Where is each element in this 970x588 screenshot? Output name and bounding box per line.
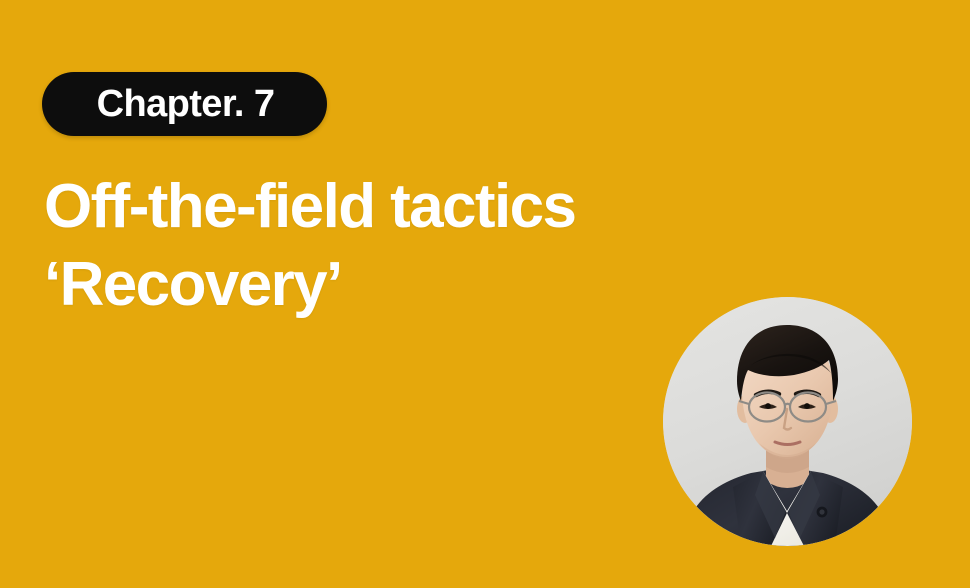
chapter-badge: Chapter. 7: [42, 72, 327, 136]
avatar: [663, 297, 912, 546]
portrait-illustration: [663, 297, 912, 546]
chapter-title-slide: Chapter. 7 Off-the-field tactics ‘Recove…: [0, 0, 970, 588]
chapter-badge-label: Chapter. 7: [97, 85, 275, 123]
page-title: Off-the-field tactics ‘Recovery’: [44, 168, 744, 324]
title-line-2: ‘Recovery’: [44, 246, 744, 324]
title-line-1: Off-the-field tactics: [44, 168, 744, 246]
